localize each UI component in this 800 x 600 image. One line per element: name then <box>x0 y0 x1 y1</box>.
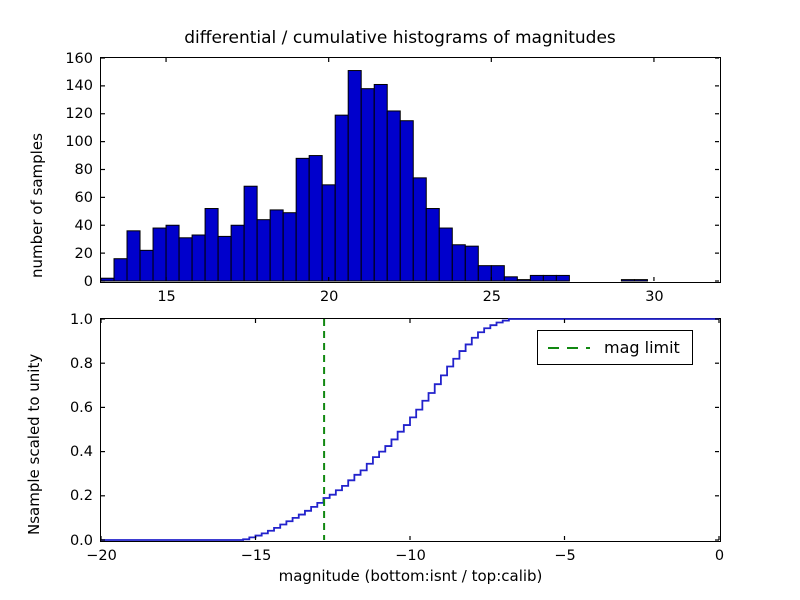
top-y-tick-label: 20 <box>38 246 93 262</box>
histogram-bar <box>244 186 257 281</box>
top-y-tick-label: 80 <box>38 162 93 178</box>
histogram-bar <box>322 185 335 281</box>
histogram-bar <box>166 225 179 281</box>
top-y-tick-label: 120 <box>38 106 93 122</box>
legend-box[interactable]: mag limit <box>537 330 693 365</box>
histogram-bar <box>400 121 413 281</box>
legend-dashed-line-icon <box>548 347 590 349</box>
histogram-bar <box>231 225 244 281</box>
top-y-tick-label: 40 <box>38 218 93 234</box>
figure-canvas: differential / cumulative histograms of … <box>0 0 800 600</box>
histogram-bar <box>257 220 270 281</box>
histogram-bar <box>426 209 439 281</box>
bottom-x-tick-label: −15 <box>241 548 272 564</box>
bottom-y-tick-label: 0.6 <box>38 400 93 416</box>
histogram-bar <box>517 280 530 281</box>
histogram-bar <box>530 275 543 281</box>
top-y-tick-label: 140 <box>38 78 93 94</box>
histogram-bar <box>439 228 452 281</box>
bottom-y-tick-label: 1.0 <box>38 312 93 328</box>
histogram-bar <box>413 178 426 281</box>
histogram-bar <box>140 250 153 281</box>
histogram-bar <box>335 115 348 281</box>
histogram-bar <box>491 266 504 281</box>
bottom-x-tick-label: −5 <box>554 548 575 564</box>
top-x-tick-label: 15 <box>157 289 175 305</box>
histogram-bar <box>348 71 361 281</box>
bottom-x-tick-label: 0 <box>715 548 724 564</box>
histogram-bar <box>621 280 634 281</box>
histogram-bar <box>192 235 205 281</box>
bottom-y-tick-label: 0.2 <box>38 488 93 504</box>
histogram-bar <box>309 156 322 281</box>
legend-label-mag-limit: mag limit <box>604 338 680 357</box>
histogram-bar <box>283 213 296 281</box>
bottom-x-tick-label: −10 <box>395 548 426 564</box>
histogram-bar <box>153 228 166 281</box>
histogram-bar <box>478 266 491 281</box>
top-y-tick-label: 60 <box>38 190 93 206</box>
histogram-bar <box>556 275 569 281</box>
top-x-tick-label: 25 <box>483 289 501 305</box>
top-x-tick-label: 30 <box>645 289 663 305</box>
figure-title: differential / cumulative histograms of … <box>0 28 800 48</box>
top-panel-y-axis-title: number of samples <box>28 133 46 278</box>
top-panel-axes <box>100 57 721 283</box>
top-y-tick-label: 160 <box>38 51 93 67</box>
histogram-bar <box>634 280 647 281</box>
top-x-tick-label: 20 <box>320 289 338 305</box>
histogram-bar <box>504 277 517 281</box>
histogram-bar <box>114 259 127 281</box>
bottom-y-tick-label: 0.4 <box>38 444 93 460</box>
bottom-panel-y-axis-title: Nsample scaled to unity <box>25 354 43 535</box>
bottom-y-tick-label: 0.8 <box>38 356 93 372</box>
bottom-x-tick-label: −20 <box>86 548 117 564</box>
histogram-bar <box>361 89 374 281</box>
histogram-bar <box>218 236 231 281</box>
top-y-tick-label: 100 <box>38 134 93 150</box>
histogram-plot-area <box>101 58 719 281</box>
histogram-bar <box>387 111 400 281</box>
histogram-bar <box>543 275 556 281</box>
histogram-bar <box>374 84 387 281</box>
bottom-panel-x-axis-title: magnitude (bottom:isnt / top:calib) <box>100 567 721 585</box>
histogram-bar <box>179 238 192 281</box>
bottom-y-tick-label: 0.0 <box>38 533 93 549</box>
histogram-bar <box>296 158 309 281</box>
histogram-bar <box>465 246 478 281</box>
histogram-bar <box>270 210 283 281</box>
top-y-tick-label: 0 <box>38 274 93 290</box>
histogram-bar <box>452 245 465 281</box>
histogram-bar <box>127 231 140 281</box>
histogram-bar <box>205 209 218 281</box>
